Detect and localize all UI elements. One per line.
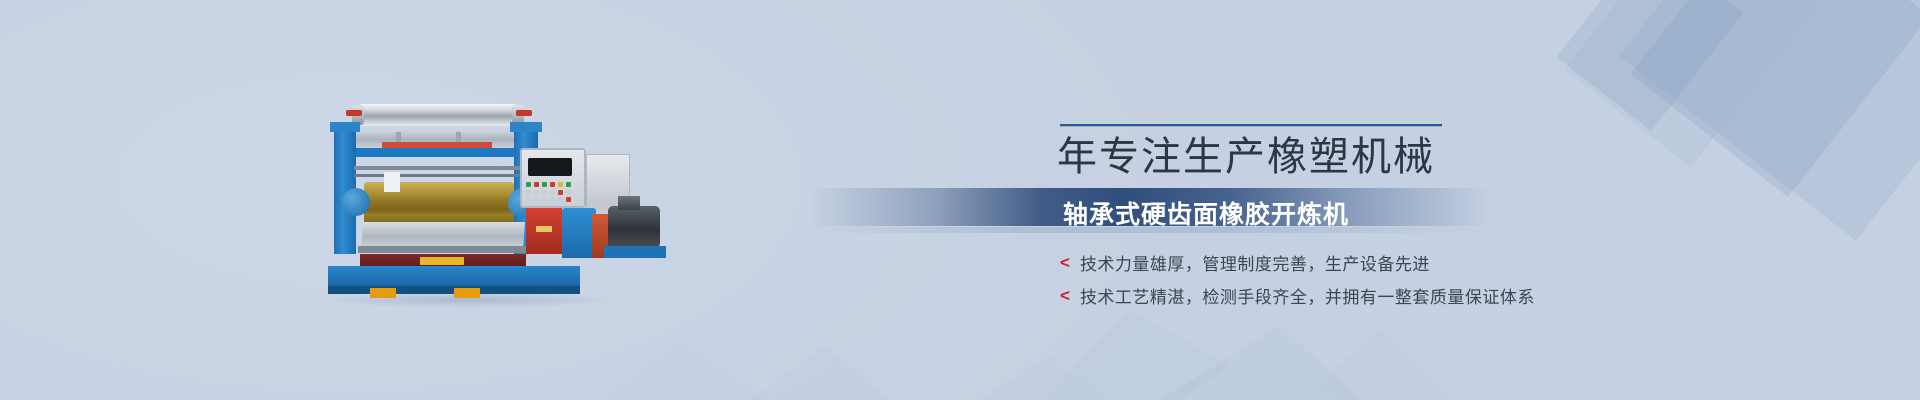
feature-bullet-1: < 技术力量雄厚，管理制度完善，生产设备先进: [1060, 250, 1430, 275]
banner-subtitle: 轴承式硬齿面橡胶开炼机: [1063, 195, 1349, 231]
machine-feed-block: [384, 172, 400, 192]
machine-frame-right-cap: [510, 122, 542, 132]
feature-bullet-2-text: 技术工艺精湛，检测手段齐全，并拥有一整套质量保证体系: [1080, 283, 1535, 308]
machine-tie-rod-2: [354, 174, 536, 177]
machine-gearbox-label: [536, 226, 552, 232]
machine-foot-left: [370, 288, 396, 298]
headline-divider: [1060, 124, 1442, 126]
promo-banner: 年专注生产橡塑机械 轴承式硬齿面橡胶开炼机 < 技术力量雄厚，管理制度完善，生产…: [0, 0, 1920, 400]
machine-motor: [608, 206, 660, 248]
machine-control-buttons: [526, 182, 578, 202]
machine-tie-rod-1: [354, 166, 536, 170]
machine-control-display: [528, 158, 572, 176]
machine-foot-right: [454, 288, 480, 298]
chevron-left-icon: <: [1060, 287, 1070, 304]
machine-top-roller: [358, 104, 518, 126]
machine-motor-base: [604, 246, 666, 258]
machine-motor-terminal-box: [618, 196, 640, 210]
banner-headline: 年专注生产橡塑机械: [1057, 134, 1435, 180]
machine-frame-left-cap: [330, 122, 360, 132]
decor-polygon-bottom-left: [560, 300, 980, 400]
machine-top-roller-bracket-left: [346, 110, 362, 116]
product-image: [286, 96, 626, 272]
machine-bearing-cap-left: [342, 188, 370, 216]
machine-top-roller-bracket-right: [516, 110, 532, 116]
machine-mid-bar-blue: [348, 148, 534, 157]
banner-text-block: 年专注生产橡塑机械 轴承式硬齿面橡胶开炼机 < 技术力量雄厚，管理制度完善，生产…: [1060, 0, 1680, 400]
feature-bullet-1-text: 技术力量雄厚，管理制度完善，生产设备先进: [1080, 250, 1430, 275]
chevron-left-icon: <: [1060, 254, 1070, 271]
machine-nameplate-label: [420, 257, 464, 265]
machine-tray-lip: [358, 246, 528, 253]
machine-reducer: [562, 208, 596, 258]
feature-bullet-2: < 技术工艺精湛，检测手段齐全，并拥有一整套质量保证体系: [1060, 283, 1535, 308]
